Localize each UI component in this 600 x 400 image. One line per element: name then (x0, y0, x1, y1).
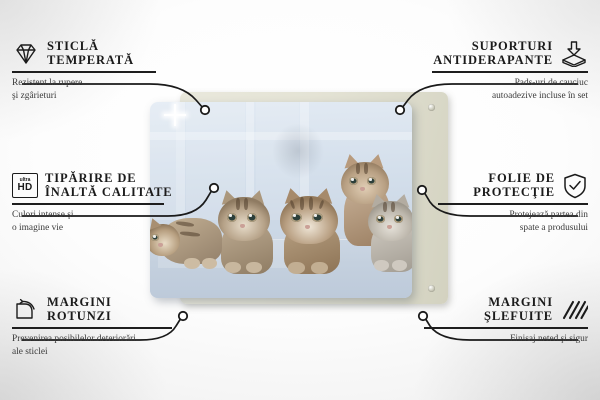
feature-title-line1: MARGINI (47, 296, 112, 310)
feature-polished-edges: MARGINI ŞLEFUITE Finisaj neted şi sigur (402, 296, 588, 346)
feature-rule (12, 327, 172, 329)
feature-body: Pads-uri de cauciuc autoadezive incluse … (402, 77, 588, 104)
press-pad-icon (560, 41, 588, 67)
feature-titles: MARGINI ŞLEFUITE (484, 296, 553, 323)
rounded-corner-icon (12, 298, 40, 322)
feature-body: Prevenirea posibilelor deteriorări ale s… (12, 333, 192, 360)
feature-titles: TIPĂRIRE DE ÎNALTĂ CALITATE (45, 172, 173, 199)
feature-body-line2: şi zgârieturi (12, 90, 192, 103)
hatch-lines-icon (560, 298, 588, 322)
feature-titles: FOLIE DE PROTECŢIE (473, 172, 555, 199)
feature-titles: MARGINI ROTUNZI (47, 296, 112, 323)
feature-body-line1: Pads-uri de cauciuc (402, 77, 588, 90)
feature-title-line1: TIPĂRIRE DE (45, 172, 173, 186)
connector-dot-print-quality (210, 184, 218, 192)
feature-body: Finisaj neted şi sigur (402, 333, 588, 346)
feature-title-line2: PROTECŢIE (473, 186, 555, 200)
feature-header: MARGINI ROTUNZI (12, 296, 192, 323)
feature-title-line1: STICLĂ (47, 40, 134, 54)
feature-body-line2: ale sticlei (12, 346, 192, 359)
feature-title-line1: MARGINI (484, 296, 553, 310)
feature-rule (12, 71, 156, 73)
feature-titles: STICLĂ TEMPERATĂ (47, 40, 134, 67)
feature-header: SUPORTURI ANTIDERAPANTE (402, 40, 588, 67)
feature-body-line1: Finisaj neted şi sigur (402, 333, 588, 346)
feature-header: FOLIE DE PROTECŢIE (402, 172, 588, 199)
feature-body: Culori intense şi o imagine vie (12, 209, 192, 236)
feature-header: ultra HD TIPĂRIRE DE ÎNALTĂ CALITATE (12, 172, 192, 199)
feature-rule (424, 327, 588, 329)
feature-titles: SUPORTURI ANTIDERAPANTE (433, 40, 553, 67)
feature-title-line2: ŞLEFUITE (484, 310, 553, 324)
feature-tempered-glass: STICLĂ TEMPERATĂ Rezistent la rupere şi … (12, 40, 192, 104)
feature-high-quality-print: ultra HD TIPĂRIRE DE ÎNALTĂ CALITATE Cul… (12, 172, 192, 236)
feature-body-line1: Prevenirea posibilelor deteriorări (12, 333, 192, 346)
glass-sparkle-highlight (164, 104, 186, 126)
feature-body-line1: Rezistent la rupere (12, 77, 192, 90)
feature-anti-slip-supports: SUPORTURI ANTIDERAPANTE Pads-uri de cauc… (402, 40, 588, 104)
feature-body-line2: o imagine vie (12, 222, 192, 235)
feature-body: Protejează partea din spate a produsului (402, 209, 588, 236)
feature-rule (438, 203, 588, 205)
feature-title-line2: ANTIDERAPANTE (433, 54, 553, 68)
feature-title-line1: FOLIE DE (473, 172, 555, 186)
ultra-hd-icon-label-bottom: HD (17, 183, 32, 193)
feature-protective-film: FOLIE DE PROTECŢIE Protejează partea din… (402, 172, 588, 236)
feature-body-line1: Protejează partea din (402, 209, 588, 222)
feature-title-line2: ÎNALTĂ CALITATE (45, 186, 173, 200)
feature-title-line1: SUPORTURI (433, 40, 553, 54)
ultra-hd-icon: ultra HD (12, 173, 38, 198)
feature-body-line1: Culori intense şi (12, 209, 192, 222)
feature-rounded-edges: MARGINI ROTUNZI Prevenirea posibilelor d… (12, 296, 192, 360)
feature-header: MARGINI ŞLEFUITE (402, 296, 588, 323)
feature-body-line2: autoadezive incluse în set (402, 90, 588, 103)
infographic-canvas: STICLĂ TEMPERATĂ Rezistent la rupere şi … (0, 0, 600, 400)
feature-title-line2: ROTUNZI (47, 310, 112, 324)
feature-body-line2: spate a produsului (402, 222, 588, 235)
feature-title-line2: TEMPERATĂ (47, 54, 134, 68)
feature-rule (12, 203, 164, 205)
feature-rule (432, 71, 588, 73)
diamond-icon (12, 42, 40, 66)
shield-check-icon (562, 173, 588, 199)
connector-dot-anti-slip (396, 106, 404, 114)
feature-body: Rezistent la rupere şi zgârieturi (12, 77, 192, 104)
feature-header: STICLĂ TEMPERATĂ (12, 40, 192, 67)
connector-dot-tempered-glass (201, 106, 209, 114)
